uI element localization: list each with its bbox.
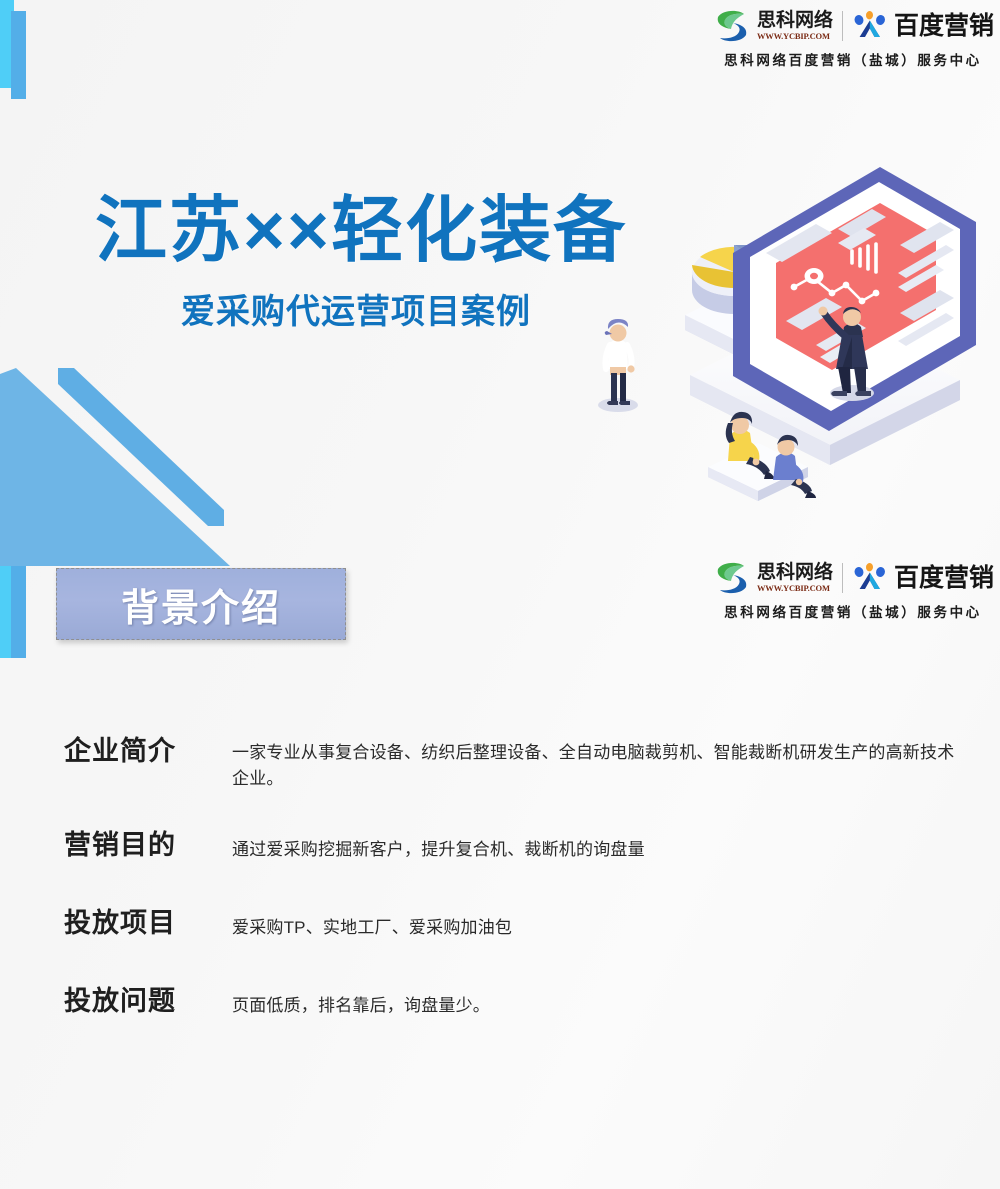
case-study-poster: 思科网络 WWW.YCBIP.COM 百度营销 思科网络百度营销（盐城）服务中心… (0, 0, 1000, 1189)
sike-swirl-icon (712, 8, 752, 44)
baidu-paw-icon (852, 10, 888, 42)
service-center-label: 思科网络百度营销（盐城）服务中心 (724, 49, 982, 69)
info-row-label: 投放问题 (64, 985, 232, 1019)
brand-logo-row: 思科网络 WWW.YCBIP.COM 百度营销 (712, 8, 994, 44)
baidu-name: 百度营销 (894, 14, 994, 39)
section-banner-background: 背景介绍 (56, 568, 346, 640)
sike-swirl-icon (712, 560, 752, 596)
info-row-value: 通过爱采购挖掘新客户，提升复合机、裁断机的询盘量 (232, 829, 970, 863)
decor-bar-blue-top (11, 11, 26, 99)
baidu-logo-2: 百度营销 (852, 562, 994, 594)
section-banner-label: 背景介绍 (121, 577, 281, 632)
decor-bar-blue-bottom (11, 566, 26, 658)
baidu-paw-icon (852, 562, 888, 594)
service-center-label-2: 思科网络百度营销（盐城）服务中心 (724, 601, 982, 621)
sike-wordmark-2: 思科网络 WWW.YCBIP.COM (757, 563, 833, 593)
decor-diagonal-large (0, 368, 230, 568)
info-row-label: 投放项目 (64, 907, 232, 941)
brand-lockup-middle: 思科网络 WWW.YCBIP.COM 百度营销 思科网络百度营销（盐城）服务中心 (712, 560, 994, 621)
baidu-logo: 百度营销 (852, 10, 994, 42)
info-row: 投放项目 爱采购TP、实地工厂、爱采购加油包 (64, 907, 970, 941)
info-row-value: 爱采购TP、实地工厂、爱采购加油包 (232, 907, 970, 941)
sike-wordmark: 思科网络 WWW.YCBIP.COM (757, 11, 833, 41)
baidu-name: 百度营销 (894, 566, 994, 591)
logo-divider (842, 11, 843, 41)
info-row-label: 营销目的 (64, 829, 232, 863)
sike-url: WWW.YCBIP.COM (757, 584, 833, 593)
background-info-list: 企业简介 一家专业从事复合设备、纺织后整理设备、全自动电脑裁剪机、智能裁断机研发… (64, 735, 970, 1056)
info-row-label: 企业简介 (64, 735, 232, 769)
logo-divider-2 (842, 563, 843, 593)
brand-logo-row-2: 思科网络 WWW.YCBIP.COM 百度营销 (712, 560, 994, 596)
sike-name: 思科网络 (757, 11, 833, 30)
person-standing (598, 319, 638, 412)
info-row: 企业简介 一家专业从事复合设备、纺织后整理设备、全自动电脑裁剪机、智能裁断机研发… (64, 735, 970, 793)
info-row: 投放问题 页面低质，排名靠后，询盘量少。 (64, 985, 970, 1019)
isometric-dashboard-illustration (580, 105, 1000, 525)
info-row: 营销目的 通过爱采购挖掘新客户，提升复合机、裁断机的询盘量 (64, 829, 970, 863)
info-row-value: 页面低质，排名靠后，询盘量少。 (232, 985, 970, 1019)
sike-logo-2: 思科网络 WWW.YCBIP.COM (712, 560, 833, 596)
info-row-value: 一家专业从事复合设备、纺织后整理设备、全自动电脑裁剪机、智能裁断机研发生产的高新… (232, 735, 970, 793)
sike-url: WWW.YCBIP.COM (757, 32, 833, 41)
sike-name: 思科网络 (757, 563, 833, 582)
sike-logo: 思科网络 WWW.YCBIP.COM (712, 8, 833, 44)
brand-lockup-header: 思科网络 WWW.YCBIP.COM 百度营销 思科网络百度营销（盐城）服务中心 (712, 8, 994, 69)
